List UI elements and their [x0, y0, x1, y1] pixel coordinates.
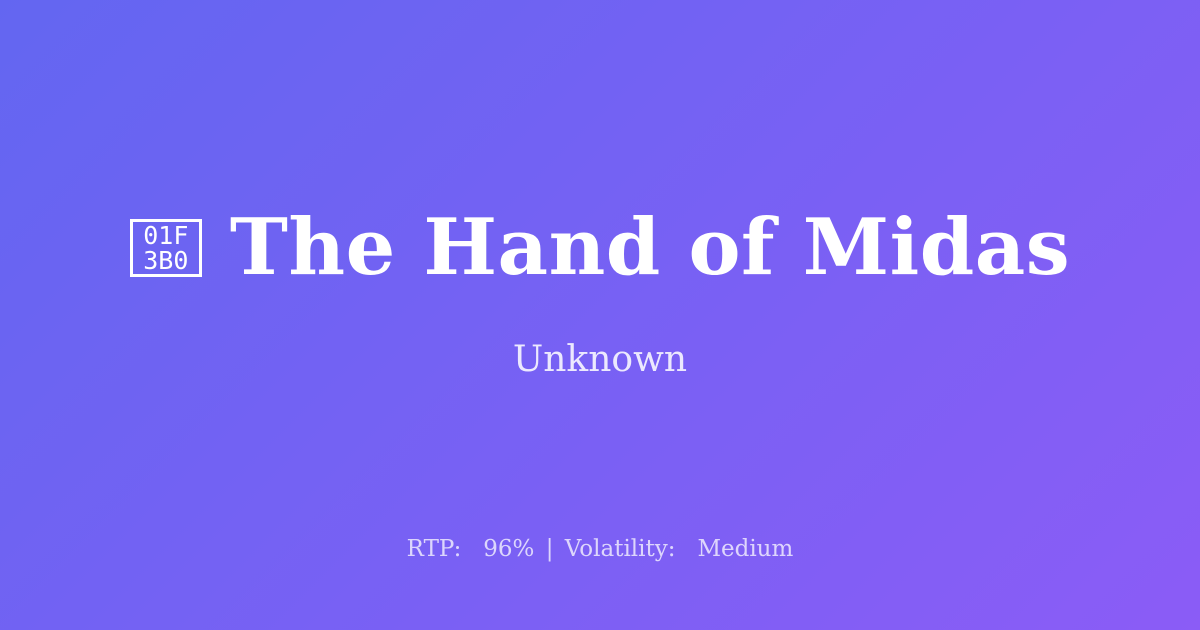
- hero-block: 01F 3B0 The Hand of Midas Unknown: [0, 204, 1200, 382]
- game-provider-subtitle: Unknown: [513, 338, 687, 382]
- slot-machine-emoji: 01F 3B0: [130, 219, 202, 277]
- title-line: 01F 3B0 The Hand of Midas: [0, 204, 1200, 292]
- page-title: The Hand of Midas: [230, 204, 1070, 292]
- stats-separator: |: [542, 536, 558, 562]
- codepoint-top: 01F: [143, 223, 188, 248]
- game-stats-footer: RTP: 96% | Volatility: Medium: [0, 534, 1200, 564]
- rtp-label: RTP:: [407, 536, 462, 562]
- volatility-label: Volatility:: [565, 536, 676, 562]
- codepoint-bottom: 3B0: [143, 248, 188, 273]
- game-promo-card: 01F 3B0 The Hand of Midas Unknown RTP: 9…: [0, 0, 1200, 630]
- volatility-value: Medium: [697, 536, 793, 562]
- rtp-value: 96%: [483, 536, 534, 562]
